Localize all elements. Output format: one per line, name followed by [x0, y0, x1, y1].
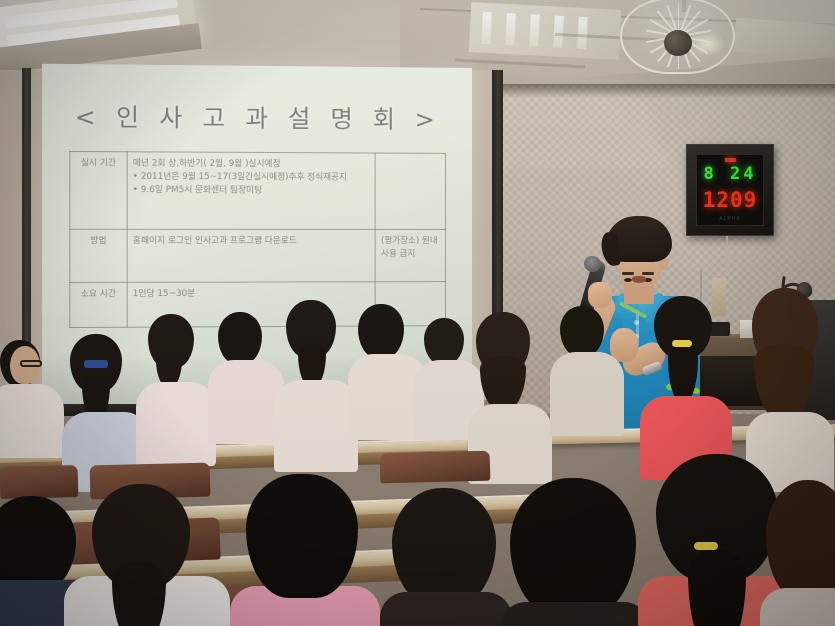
presenter-left-hand [588, 282, 612, 308]
ceiling-light-fixture-center [469, 2, 621, 60]
fan-hub [664, 30, 692, 56]
led-indicator-dot [725, 158, 736, 162]
wall-shadow [492, 84, 835, 98]
hair-tie [672, 340, 692, 347]
row-note [375, 153, 445, 229]
led-date: 8 24 [704, 166, 757, 183]
row-label: 방법 [70, 229, 127, 282]
row-label: 실시 기간 [70, 151, 127, 229]
slide-title: < 인 사 고 과 설 명 회 > [57, 97, 458, 135]
hair-clip [84, 360, 108, 368]
slide-table: 실시 기간 매년 2회 상,하반기( 2월, 9월 )실시예정 • 2011년은… [69, 151, 446, 328]
chair-back [0, 465, 78, 499]
table-row: 방법 홈페이지 로그인 인사고과 프로그램 다운로드 (평가장소) 원내 사용 … [70, 229, 446, 282]
lecture-hall-photo: < 인 사 고 과 설 명 회 > 실시 기간 매년 2회 상,하반기( 2월,… [0, 0, 835, 626]
audience-seating [0, 392, 835, 626]
wall-edge-left [22, 68, 31, 368]
hair-tie [694, 542, 718, 550]
presenter-mouth [632, 276, 646, 283]
led-time: 1209 [703, 190, 758, 211]
table-row: 실시 기간 매년 2회 상,하반기( 2월, 9월 )실시예정 • 2011년은… [70, 151, 446, 229]
glasses-icon [20, 360, 42, 367]
row-note: (평가장소) 원내 사용 금지 [375, 229, 445, 281]
row-body: 매년 2회 상,하반기( 2월, 9월 )실시예정 • 2011년은 9월 15… [127, 152, 375, 230]
ceiling-fan-icon [620, 0, 735, 74]
row-body: 홈페이지 로그인 인사고과 프로그램 다운로드 [127, 229, 375, 282]
chair-back [380, 451, 491, 484]
clock-cord [726, 236, 728, 272]
row-label: 소요 시간 [70, 282, 127, 327]
